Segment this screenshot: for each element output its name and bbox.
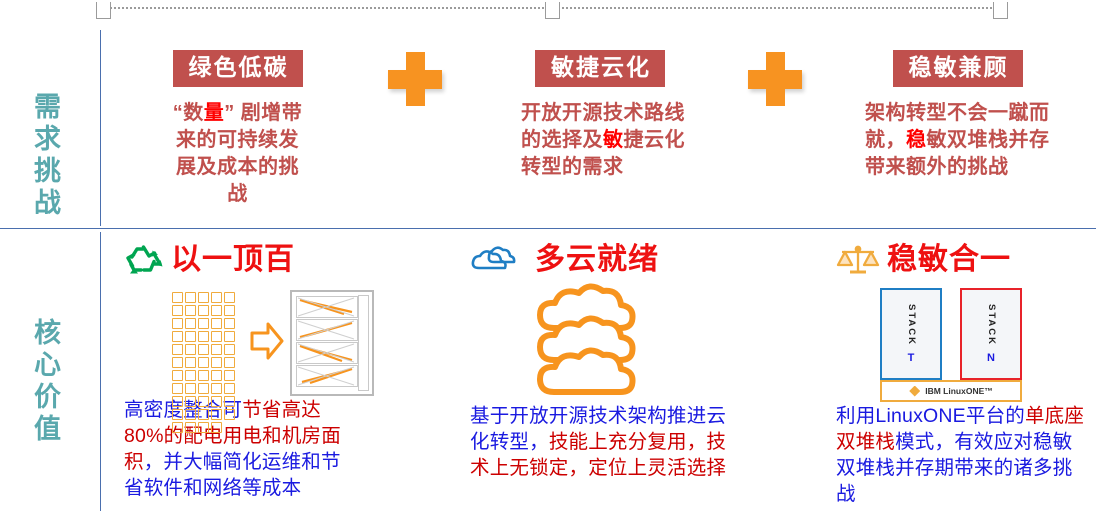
row-label-demand-char-1: 求 [18,124,78,156]
rack-wiring [292,292,368,390]
value-column-3-artwork: STACK T STACK N IBM LinuxONE™ [836,284,1091,404]
value-column-2-artwork [470,282,730,404]
server-grid-icon [172,292,244,433]
value-column-3-title: 稳敏合一 [887,245,1011,275]
stack-box-t: STACK T [880,288,942,380]
linuxone-platform-label: IBM LinuxONE™ [925,386,993,396]
divider-horizontal [0,228,1096,229]
demand-card-3: 稳敏兼顾 架构转型不会一蹴而就，稳敏双堆栈并存带来额外的挑战 [855,50,1060,181]
stack-box-t-letter: T [908,352,915,364]
row-label-value-char-2: 价 [18,382,78,414]
slide-canvas: 需 求 挑 战 核 心 价 值 绿色低碳 “数量” 剧增带来的可持续发展及成本的… [0,0,1096,511]
bracket-tab-right [993,2,1008,19]
demand-card-1: 绿色低碳 “数量” 剧增带来的可持续发展及成本的挑战 [150,50,325,208]
demand-card-1-badge: 绿色低碳 [173,50,303,87]
value-column-3: 稳敏合一 STACK T STACK N IBM LinuxONE™ 利用Lin… [836,240,1091,508]
value-column-1-title: 以一顶百 [171,245,295,275]
row-label-value-char-0: 核 [18,318,78,350]
row-label-demand-char-3: 战 [18,188,78,220]
top-bracket [96,2,1006,20]
row-label-value: 核 心 价 值 [18,318,78,445]
row-label-demand: 需 求 挑 战 [18,92,78,219]
plus-connector-2 [748,52,802,106]
value-column-2-title: 多云就绪 [535,245,659,275]
value-column-3-header: 稳敏合一 [836,240,1091,280]
divider-vertical-bottom [100,232,101,511]
linuxone-logo-icon [909,386,920,397]
value-column-3-text: 利用LinuxONE平台的单底座双堆栈模式，有效应对稳敏双堆栈并存期带来的诸多挑… [836,404,1091,508]
stack-box-t-word: STACK [906,304,916,346]
value-column-1-text-part-2: ，并大幅简化运维和节省软件和网络等成本 [124,451,341,499]
arrow-right-icon [250,322,284,360]
demand-card-2: 敏捷云化 开放开源技术路线的选择及敏捷云化转型的需求 [505,50,695,181]
rack-icon [290,290,374,396]
balance-scale-icon [836,243,880,277]
stack-box-n-word: STACK [986,304,996,346]
value-column-1: 以一顶百 [124,240,354,502]
row-label-demand-char-0: 需 [18,92,78,124]
demand-card-3-body: 架构转型不会一蹴而就，稳敏双堆栈并存带来额外的挑战 [855,100,1060,181]
stack-box-t-label: STACK [906,304,916,346]
stack-box-n: STACK N [960,288,1022,380]
value-column-1-header: 以一顶百 [124,240,354,280]
row-label-demand-char-2: 挑 [18,156,78,188]
demand-card-1-part-1: 量 [204,102,225,124]
value-column-2-text: 基于开放开源技术架构推进云化转型，技能上充分复用，技术上无锁定，定位上灵活选择 [470,404,730,482]
demand-card-2-badge: 敏捷云化 [535,50,665,87]
demand-card-1-part-0: “数 [173,102,204,124]
value-column-3-text-part-0: 利用LinuxONE平台的 [836,405,1025,427]
value-column-2: 多云就绪 基于开放开源技术架构推进云化转型，技能上充分复用，技术上无锁定，定位上… [470,240,730,482]
stack-box-n-letter: N [987,352,995,364]
row-label-value-char-1: 心 [18,350,78,382]
value-column-1-artwork [124,286,354,398]
demand-card-2-body: 开放开源技术路线的选择及敏捷云化转型的需求 [505,100,695,181]
stack-box-n-label: STACK [986,304,996,346]
value-column-2-header: 多云就绪 [470,240,730,280]
recycle-icon [124,243,164,277]
cloud-icon [470,243,528,277]
bracket-tab-left [96,2,111,19]
stacked-clouds-icon [512,282,672,402]
row-label-value-char-3: 值 [18,414,78,446]
demand-card-2-part-1: 敏 [603,129,624,151]
bracket-tab-center [545,2,560,19]
linuxone-platform-bar: IBM LinuxONE™ [880,380,1022,402]
demand-card-3-part-1: 稳 [906,129,927,151]
demand-card-3-badge: 稳敏兼顾 [893,50,1023,87]
demand-card-1-body: “数量” 剧增带来的可持续发展及成本的挑战 [150,100,325,208]
divider-vertical-top [100,30,101,226]
plus-connector-1 [388,52,442,106]
